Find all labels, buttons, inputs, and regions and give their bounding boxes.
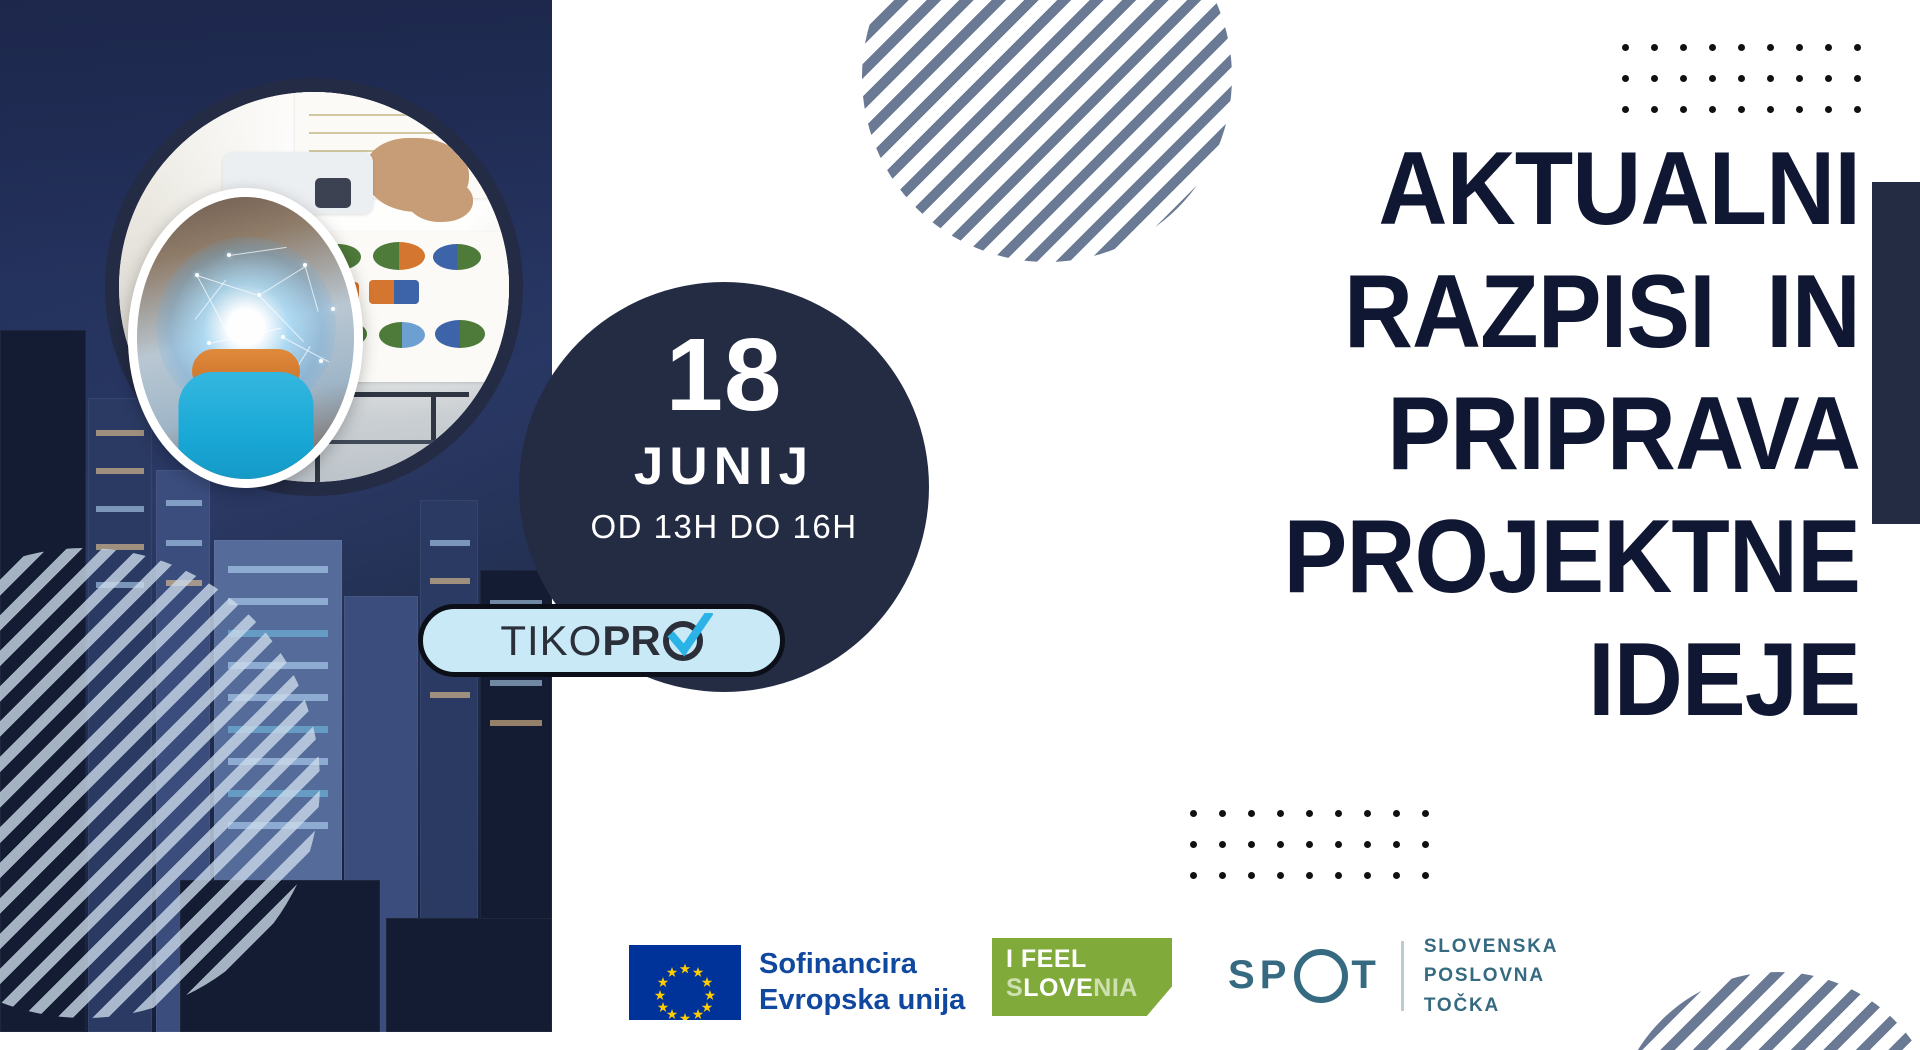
spot-wordmark: SPT [1228,949,1381,1003]
eu-cofunding-text: Sofinancira Evropska unija [759,947,965,1018]
i-feel-slovenia-logo: I FEEL SLOVENIA [992,938,1172,1016]
dot-grid-top [1622,44,1861,113]
headline-line-3: PRIPRAVA [1087,373,1860,496]
spot-subtitle: SLOVENSKA POSLOVNA TOČKA [1424,932,1558,1020]
event-month: JUNIJ [519,440,929,493]
lightbulb-idea-photo [128,188,363,488]
spot-letter-s: S [1228,953,1260,998]
spot-circle-o-icon [1294,949,1348,1003]
spot-letter-p: P [1260,953,1292,998]
headline-line-4: PROJEKTNE [1087,496,1860,619]
event-time-range: OD 13H DO 16H [519,510,929,543]
spot-subtitle-line-2: POSLOVNA [1424,961,1558,990]
headline-line-2: RAZPISI IN [1087,251,1860,374]
slovenia-s: S [1006,974,1023,1002]
tikopro-wordmark: TIKOPR [500,617,702,665]
slovenia-line-1: I FEEL [1006,945,1087,974]
pro-bold-text: PR [602,617,660,665]
event-day: 18 [519,326,929,424]
headline-line-5: IDEJE [1087,619,1860,742]
footer-logo-row: Sofinancira Evropska unija I FEEL SLOVEN… [0,924,1920,1034]
slovenia-line-2: SLOVENIA [1006,974,1138,1003]
slovenia-love: LOVE [1023,974,1093,1002]
spot-subtitle-line-3: TOČKA [1424,991,1558,1020]
slovenia-nia: NIA [1093,974,1138,1002]
poster-headline: AKTUALNI RAZPISI IN PRIPRAVA PROJEKTNE I… [1020,128,1860,742]
blue-hand-overlay [178,372,313,488]
dot-grid-bottom [1190,810,1429,879]
tikopro-logo-badge[interactable]: TIKOPR [418,604,785,677]
checkmark-o-icon [663,621,703,661]
european-union-flag-icon [629,945,741,1020]
spot-letter-t: T [1351,953,1380,998]
headline-line-1: AKTUALNI [1087,128,1860,251]
right-edge-navy-bar [1872,182,1920,524]
eu-cofunding-logo: Sofinancira Evropska unija [629,945,965,1020]
spot-logo: SPT SLOVENSKA POSLOVNA TOČKA [1228,932,1558,1020]
spot-subtitle-line-1: SLOVENSKA [1424,932,1558,961]
spot-divider [1401,941,1404,1011]
tiko-light-text: TIKO [500,617,602,665]
poster-canvas: 18 JUNIJ OD 13H DO 16H TIKOPR AKTUALNI R… [0,0,1920,1050]
